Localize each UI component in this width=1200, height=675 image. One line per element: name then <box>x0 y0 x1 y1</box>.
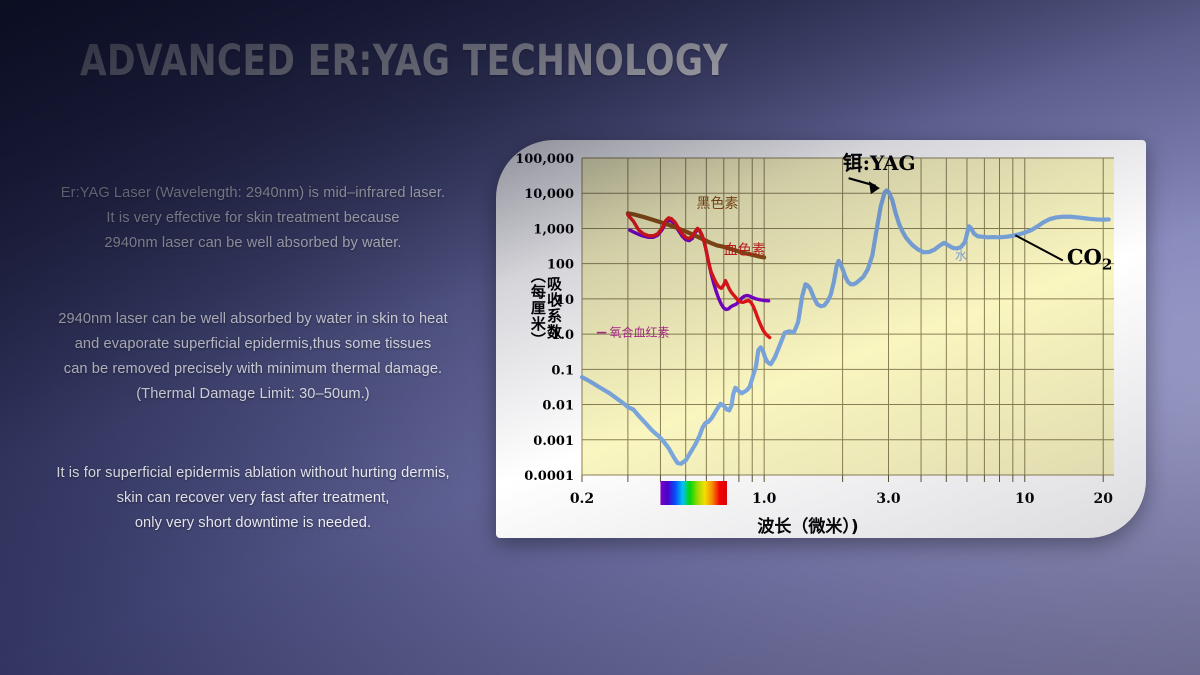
slide-background: ADVANCED ER:YAG TECHNOLOGY Er:YAG Laser … <box>0 0 1200 675</box>
er-yag-annotation: 铒:YAG <box>843 151 916 175</box>
x-tick-label: 10 <box>1015 491 1035 507</box>
y-axis-title-line-1: 吸收系数 <box>546 268 562 348</box>
y-tick-label: 0.001 <box>533 434 574 449</box>
water-annotation: 水 <box>955 249 967 263</box>
x-tick-label: 3.0 <box>876 491 901 507</box>
y-axis-title-line-2: （每厘米） <box>530 268 546 348</box>
mechanism-line-2: and evaporate superficial epidermis,thus… <box>18 332 488 357</box>
page-title: ADVANCED ER:YAG TECHNOLOGY <box>80 36 728 86</box>
recovery-line-3: only very short downtime is needed. <box>18 511 488 536</box>
intro-line-2: It is very effective for skin treatment … <box>18 206 488 231</box>
mechanism-line-3: can be removed precisely with minimum th… <box>18 357 488 382</box>
mechanism-line-1: 2940nm laser can be well absorbed by wat… <box>18 307 488 332</box>
y-tick-label: 0.1 <box>551 363 574 378</box>
oxyhemoglobin-annotation: 氧合血红素 <box>609 325 669 340</box>
absorption-chart-card: 0.00010.0010.010.11.0101001,00010,000100… <box>496 140 1146 538</box>
y-tick-label: 1,000 <box>533 222 574 237</box>
intro-line-1: Er:YAG Laser (Wavelength: 2940nm) is mid… <box>18 181 488 206</box>
x-tick-label: 0.2 <box>570 491 594 507</box>
mechanism-paragraph: 2940nm laser can be well absorbed by wat… <box>18 307 488 407</box>
x-tick-label: 1.0 <box>752 491 777 507</box>
plot-background <box>582 158 1114 475</box>
melanin-annotation: 黑色素 <box>696 195 738 212</box>
co2-annotation-subscript: 2 <box>1102 255 1113 273</box>
y-tick-label: 100,000 <box>515 152 574 167</box>
x-gridlines <box>582 158 1103 475</box>
intro-paragraph: Er:YAG Laser (Wavelength: 2940nm) is mid… <box>18 181 488 256</box>
intro-line-3: 2940nm laser can be well absorbed by wat… <box>18 231 488 256</box>
hemoglobin-annotation: 血色素 <box>724 242 766 259</box>
x-axis-title: 波长（微米）) <box>757 516 858 537</box>
mechanism-line-4: (Thermal Damage Limit: 30–50um.) <box>18 382 488 407</box>
y-axis-title: 吸收系数 （每厘米） <box>502 268 562 348</box>
y-tick-label: 0.0001 <box>524 469 574 484</box>
absorption-chart: 0.00010.0010.010.11.0101001,00010,000100… <box>496 140 1146 538</box>
visible-spectrum-bar <box>660 481 727 505</box>
x-tick-label: 20 <box>1093 491 1113 507</box>
recovery-line-2: skin can recover very fast after treatme… <box>18 486 488 511</box>
recovery-paragraph: It is for superficial epidermis ablation… <box>18 461 488 536</box>
recovery-line-1: It is for superficial epidermis ablation… <box>18 461 488 486</box>
y-tick-label: 0.01 <box>542 399 574 414</box>
y-tick-label: 10,000 <box>524 187 574 202</box>
absorption-chart-svg: 0.00010.0010.010.11.0101001,00010,000100… <box>496 140 1146 538</box>
x-tick-labels: 0.21.03.01020 <box>570 491 1113 507</box>
x-tick-marks <box>582 475 1103 482</box>
